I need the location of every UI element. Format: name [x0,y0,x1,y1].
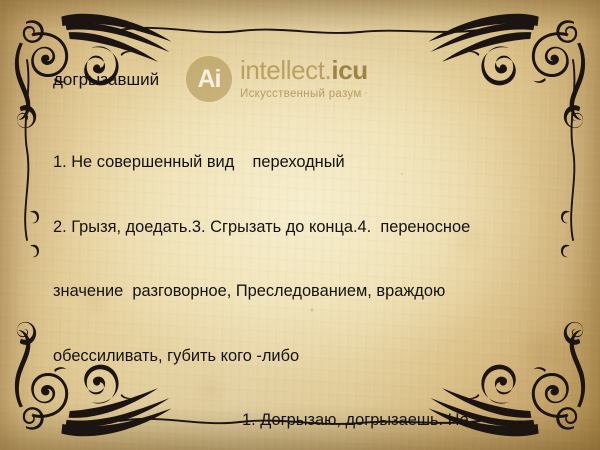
dictionary-entry: догрызавший 1. Не совершенный вид перехо… [0,0,600,450]
definition-line: значение разговорное, Преследованием, вр… [53,281,553,303]
definition-line: обессиливать, губить кого -либо [53,346,553,368]
definition-list: 1. Не совершенный вид переходный 2. Грыз… [53,109,553,450]
parchment-page: Ai intellect.icu Искусственный разум дог… [0,0,600,450]
definition-line: 2. Грызя, доедать.3. Сгрызать до конца.4… [53,217,553,239]
definition-line: 1. Догрызаю, догрызаешь. Не [53,410,553,432]
definition-line: 1. Не совершенный вид переходный [53,152,553,174]
page-title: догрызавший [53,70,159,90]
